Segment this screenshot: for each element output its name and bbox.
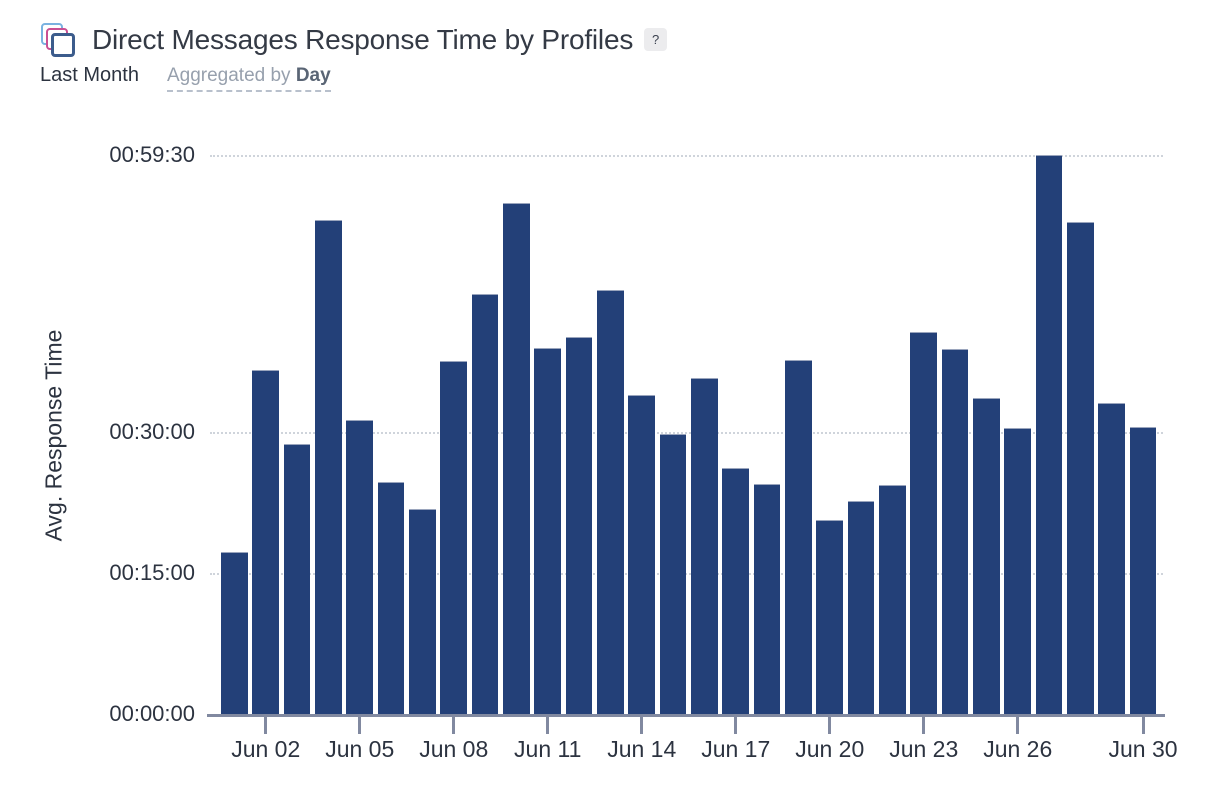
x-axis-tick-label: Jun 05 (325, 736, 394, 763)
x-axis-ticks: Jun 02Jun 05Jun 08Jun 11Jun 14Jun 17Jun … (0, 0, 1217, 798)
x-axis-tick (358, 717, 361, 734)
x-axis-tick (734, 717, 737, 734)
x-axis-tick-label: Jun 08 (419, 736, 488, 763)
x-axis-tick-label: Jun 26 (983, 736, 1052, 763)
x-axis-tick-label: Jun 20 (795, 736, 864, 763)
x-axis-tick-label: Jun 14 (607, 736, 676, 763)
x-axis-tick (452, 717, 455, 734)
x-axis-tick (264, 717, 267, 734)
x-axis-tick (1016, 717, 1019, 734)
x-axis-tick-label: Jun 11 (514, 736, 581, 763)
x-axis-tick-label: Jun 02 (231, 736, 300, 763)
x-axis-tick-label: Jun 30 (1109, 736, 1178, 763)
chart-plot-area: Avg. Response Time 00:00:0000:15:0000:30… (0, 0, 1217, 798)
x-axis-tick (922, 717, 925, 734)
x-axis-tick (1142, 717, 1145, 734)
x-axis-tick (828, 717, 831, 734)
x-axis-tick-label: Jun 17 (701, 736, 770, 763)
x-axis-tick-label: Jun 23 (889, 736, 958, 763)
x-axis-tick (640, 717, 643, 734)
x-axis-tick (546, 717, 549, 734)
